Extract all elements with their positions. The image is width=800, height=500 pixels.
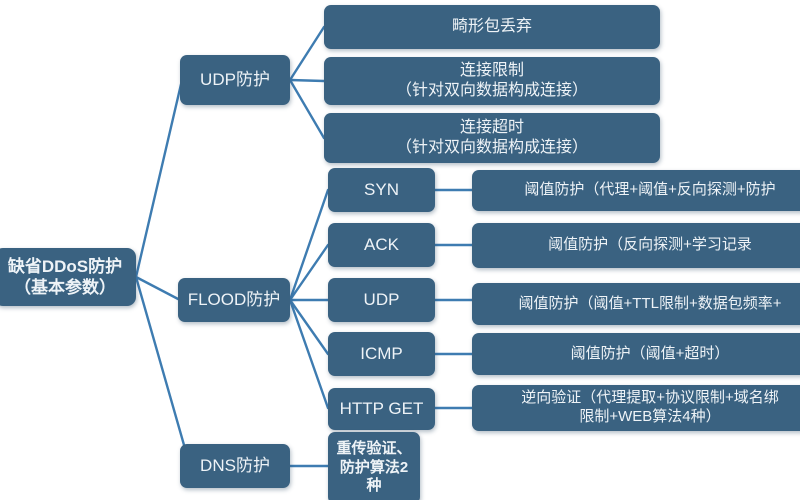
branch-node-udp-label: UDP防护 bbox=[186, 69, 284, 90]
node-proto-udp-flood-label: UDP bbox=[334, 289, 429, 310]
branch-node-dns[interactable]: DNS防护 bbox=[180, 444, 290, 488]
node-detail-http-get-label: 逆向验证（代理提取+协议限制+域名绑 限制+WEB算法4种） bbox=[478, 389, 800, 427]
node-detail-http-get[interactable]: 逆向验证（代理提取+协议限制+域名绑 限制+WEB算法4种） bbox=[472, 385, 800, 431]
root-node-line2: （基本参数） bbox=[14, 278, 116, 297]
node-detail-dns-line2: 防护算法2 bbox=[340, 459, 408, 476]
connector-udp-to-malformed bbox=[290, 27, 324, 80]
connector-flood-to-ack bbox=[290, 245, 328, 300]
node-udp-conn-timeout-line2: （针对双向数据构成连接） bbox=[396, 139, 588, 156]
root-node-label: 缺省DDoS防护 （基本参数） bbox=[0, 256, 130, 299]
branch-node-flood-label: FLOOD防护 bbox=[184, 289, 284, 310]
branch-node-dns-label: DNS防护 bbox=[186, 455, 284, 476]
node-udp-conn-timeout-label: 连接超时 （针对双向数据构成连接） bbox=[330, 118, 654, 158]
connector-flood-to-icmp bbox=[290, 300, 328, 354]
node-detail-udp-flood-label: 阈值防护（阈值+TTL限制+数据包频率+ bbox=[478, 295, 800, 314]
node-proto-ack[interactable]: ACK bbox=[328, 223, 435, 267]
node-detail-udp-flood[interactable]: 阈值防护（阈值+TTL限制+数据包频率+ bbox=[472, 283, 800, 325]
root-node-line1: 缺省DDoS防护 bbox=[8, 257, 122, 276]
root-node[interactable]: 缺省DDoS防护 （基本参数） bbox=[0, 248, 136, 306]
node-udp-malformed[interactable]: 畸形包丢弃 bbox=[324, 5, 660, 49]
node-proto-udp-flood[interactable]: UDP bbox=[328, 278, 435, 322]
node-proto-ack-label: ACK bbox=[334, 234, 429, 255]
node-proto-syn-label: SYN bbox=[334, 179, 429, 200]
node-detail-http-get-line2: 限制+WEB算法4种） bbox=[579, 408, 720, 425]
node-udp-conn-timeout[interactable]: 连接超时 （针对双向数据构成连接） bbox=[324, 113, 660, 163]
connector-flood-to-httpget bbox=[290, 300, 328, 408]
node-proto-icmp-label: ICMP bbox=[334, 343, 429, 364]
connector-root-to-flood bbox=[136, 277, 180, 300]
node-udp-conn-limit-label: 连接限制 （针对双向数据构成连接） bbox=[330, 61, 654, 101]
connector-udp-to-connlimit bbox=[290, 80, 324, 81]
mindmap-canvas: 缺省DDoS防护 （基本参数） UDP防护 畸形包丢弃 连接限制 （针对双向数据… bbox=[0, 0, 800, 500]
node-udp-conn-timeout-line1: 连接超时 bbox=[460, 119, 524, 136]
node-detail-dns-line3: 种 bbox=[366, 477, 381, 494]
node-detail-syn-label: 阈值防护（代理+阈值+反向探测+防护 bbox=[478, 181, 800, 200]
node-udp-conn-limit-line1: 连接限制 bbox=[460, 62, 524, 79]
connector-root-to-udp bbox=[136, 80, 182, 277]
node-detail-icmp[interactable]: 阈值防护（阈值+超时） bbox=[472, 333, 800, 375]
connector-udp-to-conntimeout bbox=[290, 80, 324, 138]
node-udp-conn-limit[interactable]: 连接限制 （针对双向数据构成连接） bbox=[324, 57, 660, 105]
node-detail-syn[interactable]: 阈值防护（代理+阈值+反向探测+防护 bbox=[472, 170, 800, 211]
node-udp-conn-limit-line2: （针对双向数据构成连接） bbox=[396, 82, 588, 99]
branch-node-flood[interactable]: FLOOD防护 bbox=[178, 278, 290, 322]
node-detail-dns[interactable]: 重传验证、 防护算法2 种 bbox=[328, 432, 420, 500]
node-detail-dns-label: 重传验证、 防护算法2 种 bbox=[334, 440, 414, 496]
node-detail-ack[interactable]: 阈值防护（反向探测+学习记录 bbox=[472, 223, 800, 268]
node-proto-syn[interactable]: SYN bbox=[328, 168, 435, 212]
node-detail-ack-label: 阈值防护（反向探测+学习记录 bbox=[478, 236, 800, 255]
node-detail-icmp-label: 阈值防护（阈值+超时） bbox=[478, 345, 800, 364]
connector-flood-to-syn bbox=[290, 190, 328, 300]
node-detail-dns-line1: 重传验证、 bbox=[336, 440, 411, 457]
node-proto-http-get[interactable]: HTTP GET bbox=[328, 388, 435, 430]
node-udp-malformed-label: 畸形包丢弃 bbox=[330, 17, 654, 37]
node-proto-icmp[interactable]: ICMP bbox=[328, 332, 435, 376]
branch-node-udp[interactable]: UDP防护 bbox=[180, 55, 290, 105]
node-proto-http-get-label: HTTP GET bbox=[334, 398, 429, 419]
node-detail-http-get-line1: 逆向验证（代理提取+协议限制+域名绑 bbox=[521, 389, 779, 406]
